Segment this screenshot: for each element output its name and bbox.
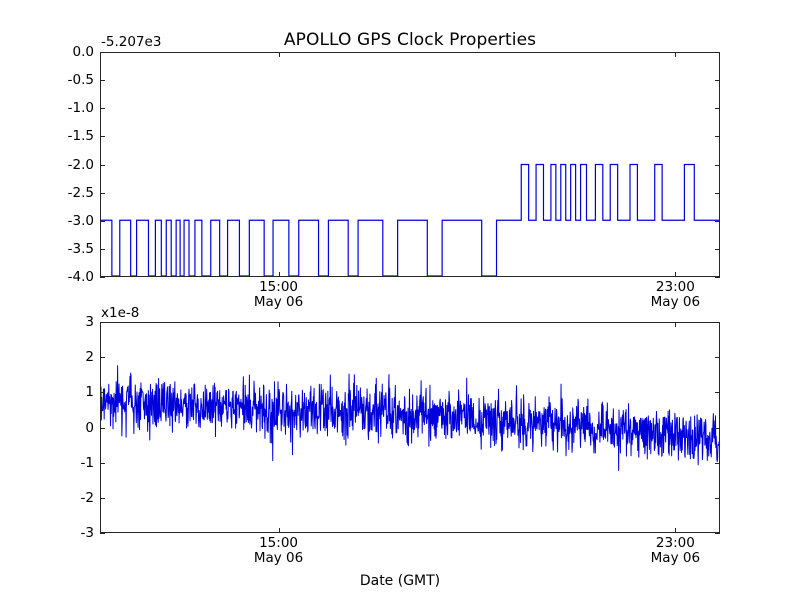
dac-y-tick: -1.5 <box>68 128 100 144</box>
tick-mark <box>675 272 676 277</box>
tick-mark <box>715 277 720 278</box>
tick-mark <box>100 80 105 81</box>
tick-mark <box>100 533 105 534</box>
tick-mark <box>279 52 280 57</box>
tick-mark <box>279 272 280 277</box>
tick-mark <box>675 322 676 327</box>
tick-mark <box>715 392 720 393</box>
phase-plot-axes <box>100 322 720 533</box>
tick-mark <box>100 52 105 53</box>
dac-y-tick: -3.5 <box>68 241 100 257</box>
tick-mark <box>715 533 720 534</box>
phase-y-tick: -3 <box>81 525 100 541</box>
phase-y-tick: 1 <box>85 384 100 400</box>
tick-mark <box>715 52 720 53</box>
phase-x-tick: 23:00May 06 <box>651 536 700 566</box>
dac-y-tick: -1.0 <box>68 100 100 116</box>
phase-y-tick-labels: 3210-1-2-3 <box>0 322 100 533</box>
tick-mark <box>715 221 720 222</box>
date-axis-label: Date (GMT) <box>0 573 800 589</box>
tick-mark <box>100 136 105 137</box>
phase-x-tick: 15:00May 06 <box>254 536 303 566</box>
dac-y-tick-labels: 0.0-0.5-1.0-1.5-2.0-2.5-3.0-3.5-4.0 <box>0 52 100 277</box>
tick-mark <box>715 136 720 137</box>
tick-mark <box>100 392 105 393</box>
tick-mark <box>100 165 105 166</box>
dac-step-line <box>101 53 719 276</box>
tick-mark <box>715 80 720 81</box>
tick-mark <box>100 463 105 464</box>
dac-x-tick: 15:00May 06 <box>254 280 303 310</box>
tick-mark <box>715 498 720 499</box>
tick-mark <box>715 428 720 429</box>
phase-y-tick: -2 <box>81 490 100 506</box>
dac-y-tick: 0.0 <box>73 44 100 60</box>
tick-mark <box>100 322 105 323</box>
dac-y-tick: -2.5 <box>68 185 100 201</box>
tick-mark <box>715 322 720 323</box>
dac-y-tick: -0.5 <box>68 72 100 88</box>
dac-series-canvas <box>101 53 719 276</box>
dac-y-tick: -2.0 <box>68 157 100 173</box>
tick-mark <box>715 249 720 250</box>
tick-mark <box>100 108 105 109</box>
dac-y-offset-label: -5.207e3 <box>101 34 161 50</box>
phase-series-canvas <box>101 323 719 532</box>
tick-mark <box>100 277 105 278</box>
tick-mark <box>715 193 720 194</box>
tick-mark <box>279 322 280 327</box>
tick-mark <box>715 165 720 166</box>
figure-canvas: APOLLO GPS Clock Properties -5.207e3 x1e… <box>0 0 800 600</box>
tick-mark <box>715 463 720 464</box>
phase-y-tick: 0 <box>85 420 100 436</box>
phase-noise-line <box>101 366 719 471</box>
tick-mark <box>279 528 280 533</box>
tick-mark <box>715 357 720 358</box>
dac-y-tick: -3.0 <box>68 213 100 229</box>
tick-mark <box>675 528 676 533</box>
tick-mark <box>100 249 105 250</box>
tick-mark <box>100 221 105 222</box>
phase-y-tick: 2 <box>85 349 100 365</box>
page-title: APOLLO GPS Clock Properties <box>100 30 720 50</box>
tick-mark <box>100 193 105 194</box>
tick-mark <box>100 428 105 429</box>
phase-y-tick: 3 <box>85 314 100 330</box>
phase-y-tick: -1 <box>81 455 100 471</box>
tick-mark <box>675 52 676 57</box>
tick-mark <box>100 498 105 499</box>
phase-y-offset-label: x1e-8 <box>101 305 139 321</box>
dac-plot-axes <box>100 52 720 277</box>
tick-mark <box>100 357 105 358</box>
dac-x-tick: 23:00May 06 <box>651 280 700 310</box>
tick-mark <box>715 108 720 109</box>
dac-y-tick: -4.0 <box>68 269 100 285</box>
